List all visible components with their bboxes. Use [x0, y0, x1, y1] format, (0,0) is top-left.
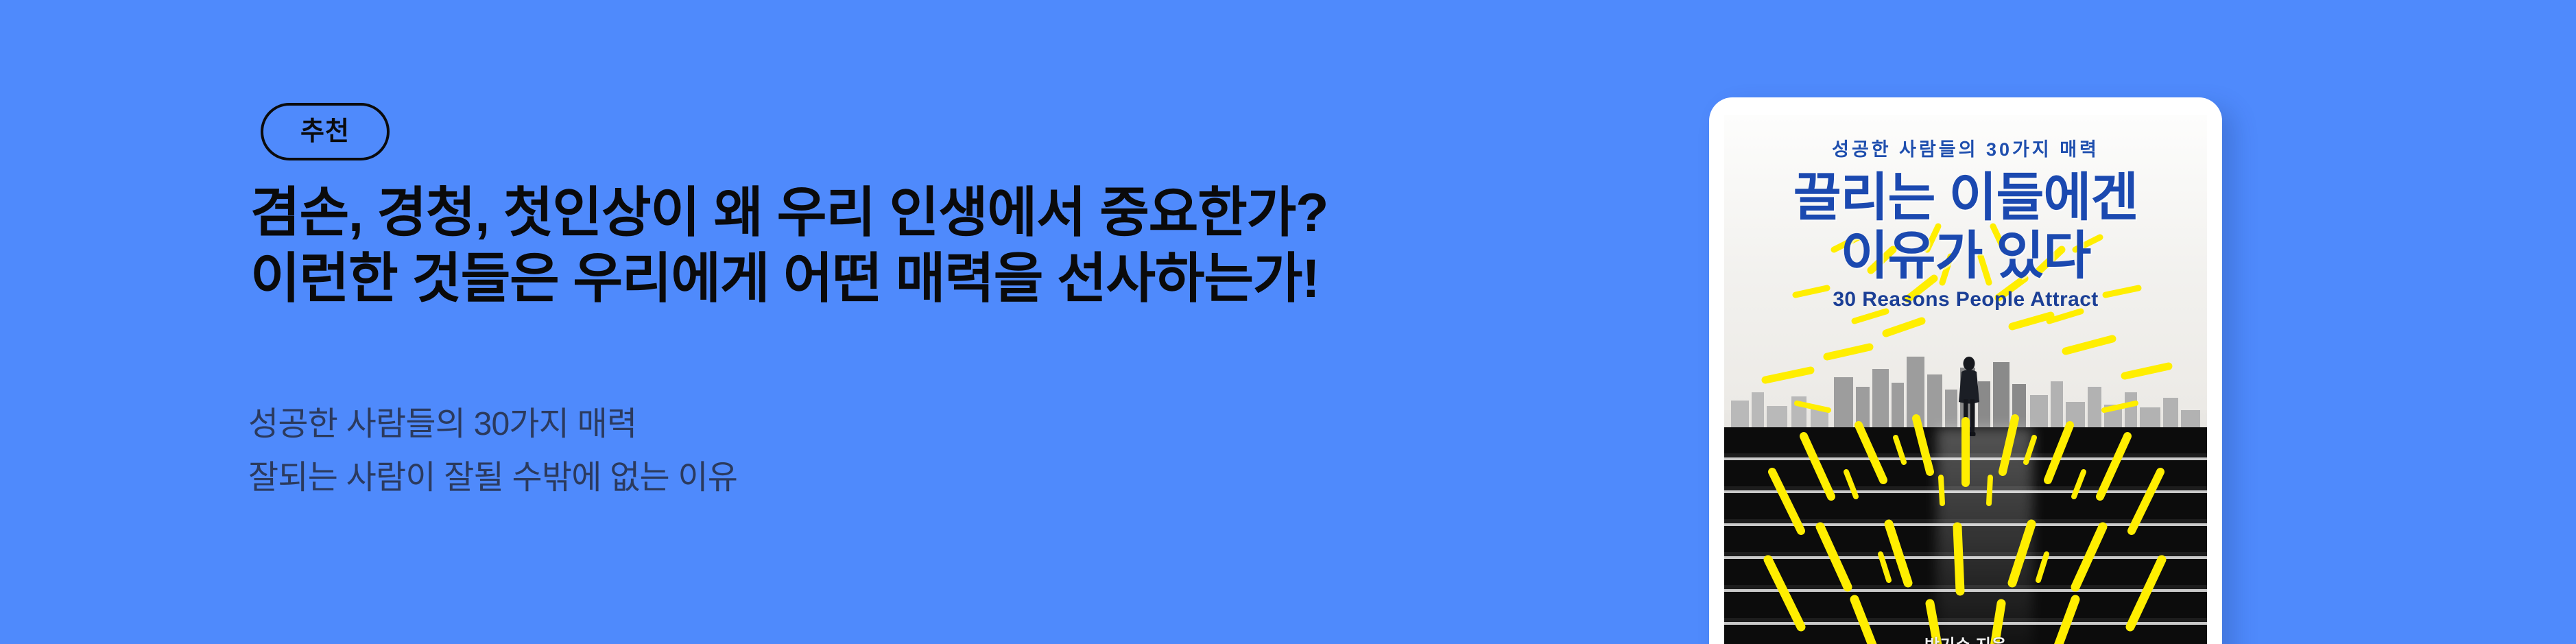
cover-kicker-text: 성공한 사람들의 30가지 매력: [1724, 134, 2207, 161]
man-silhouette-icon: [1953, 357, 1985, 438]
cover-english-subtitle: 30 Reasons People Attract: [1724, 288, 2207, 311]
page-title: 겸손, 경청, 첫인상이 왜 우리 인생에서 중요한가? 이런한 것들은 우리에…: [250, 180, 1328, 312]
headline-line-2: 이런한 것들은 우리에게 어떤 매력을 선사하는가!: [250, 246, 1328, 311]
cover-author-text: 박기수 지음: [1724, 632, 2207, 644]
page-subtitle: 성공한 사람들의 30가지 매력 잘되는 사람이 잘될 수밖에 없는 이유: [248, 398, 737, 505]
headline-line-1: 겸손, 경청, 첫인상이 왜 우리 인생에서 중요한가?: [250, 180, 1328, 246]
subtitle-line-2: 잘되는 사람이 잘될 수밖에 없는 이유: [248, 451, 737, 505]
banner-text-block: 추천 겸손, 경청, 첫인상이 왜 우리 인생에서 중요한가? 이런한 것들은 …: [250, 0, 1588, 644]
cover-title-line-2: 이유가 있다: [1724, 227, 2207, 285]
promo-banner: 추천 겸손, 경청, 첫인상이 왜 우리 인생에서 중요한가? 이런한 것들은 …: [0, 0, 2576, 644]
subtitle-line-1: 성공한 사람들의 30가지 매력: [248, 398, 737, 451]
book-cover-card[interactable]: 성공한 사람들의 30가지 매력 끌리는 이들에겐 이유가 있다 30 Reas…: [1709, 97, 2222, 644]
stairs-light-glow: [1937, 427, 2033, 644]
cover-title-line-1: 끌리는 이들에겐: [1724, 169, 2207, 227]
recommended-badge[interactable]: 추천: [261, 103, 390, 160]
book-cover-image: 성공한 사람들의 30가지 매력 끌리는 이들에겐 이유가 있다 30 Reas…: [1724, 115, 2207, 644]
cover-title: 끌리는 이들에겐 이유가 있다: [1724, 169, 2207, 285]
